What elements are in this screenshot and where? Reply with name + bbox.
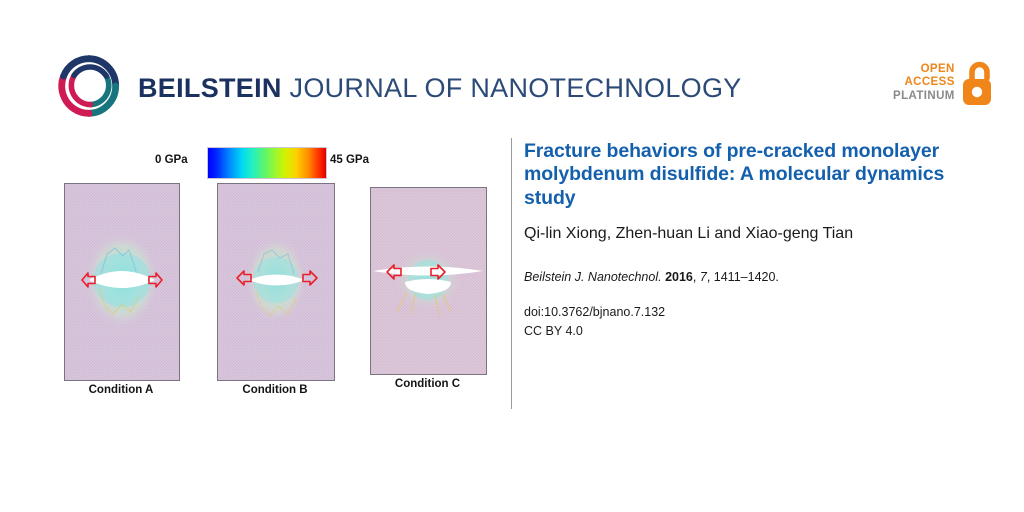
open-access-line-access: ACCESS: [893, 76, 955, 90]
open-access-line-platinum: PLATINUM: [893, 90, 955, 104]
citation-pages: 1411–1420.: [714, 270, 779, 284]
panel-caption-condition-a: Condition A: [64, 384, 178, 396]
article-title[interactable]: Fracture behaviors of pre-cracked monola…: [524, 140, 964, 210]
wordmark-journal-of-nanotechnology: JOURNAL OF NANOTECHNOLOGY: [290, 73, 742, 103]
scale-min-label: 0 GPa: [155, 154, 188, 166]
article-info-panel: Fracture behaviors of pre-cracked monola…: [524, 140, 964, 340]
citation-line: Beilstein J. Nanotechnol. 2016, 7, 1411–…: [524, 269, 964, 286]
citation-volume: 7: [700, 270, 707, 284]
citation-volume-comma: ,: [707, 270, 710, 284]
open-access-text: OPEN ACCESS PLATINUM: [893, 63, 955, 104]
figure-region: 0 GPa 45 GPa: [0, 132, 512, 422]
simulation-panel-condition-a[interactable]: [64, 183, 180, 381]
open-lock-icon: [960, 58, 998, 108]
doi-line[interactable]: doi:10.3762/bjnano.7.132: [524, 303, 964, 322]
wordmark-beilstein: BEILSTEIN: [138, 73, 282, 103]
simulation-panel-condition-b[interactable]: [217, 183, 335, 381]
open-access-line-open: OPEN: [893, 63, 955, 77]
citation-year: 2016: [665, 270, 693, 284]
open-access-badge[interactable]: OPEN ACCESS PLATINUM: [893, 58, 998, 108]
article-authors: Qi-lin Xiong, Zhen-huan Li and Xiao-geng…: [524, 224, 964, 245]
panel-caption-condition-c: Condition C: [370, 378, 485, 390]
citation-year-comma: ,: [693, 270, 696, 284]
license-line[interactable]: CC BY 4.0: [524, 322, 964, 341]
simulation-panel-condition-c[interactable]: [370, 187, 487, 375]
beilstein-circular-logo-icon: [58, 55, 120, 122]
citation-journal: Beilstein J. Nanotechnol.: [524, 270, 662, 284]
journal-wordmark: BEILSTEIN JOURNAL OF NANOTECHNOLOGY: [138, 75, 742, 102]
journal-brand-lockup[interactable]: BEILSTEIN JOURNAL OF NANOTECHNOLOGY: [58, 55, 742, 122]
masthead: BEILSTEIN JOURNAL OF NANOTECHNOLOGY OPEN…: [0, 0, 1024, 132]
stress-color-scale: 0 GPa 45 GPa: [155, 144, 380, 180]
scale-max-label: 45 GPa: [330, 154, 369, 166]
panel-caption-condition-b: Condition B: [217, 384, 333, 396]
colorbar-gradient: [207, 147, 327, 179]
column-divider: [511, 138, 512, 409]
